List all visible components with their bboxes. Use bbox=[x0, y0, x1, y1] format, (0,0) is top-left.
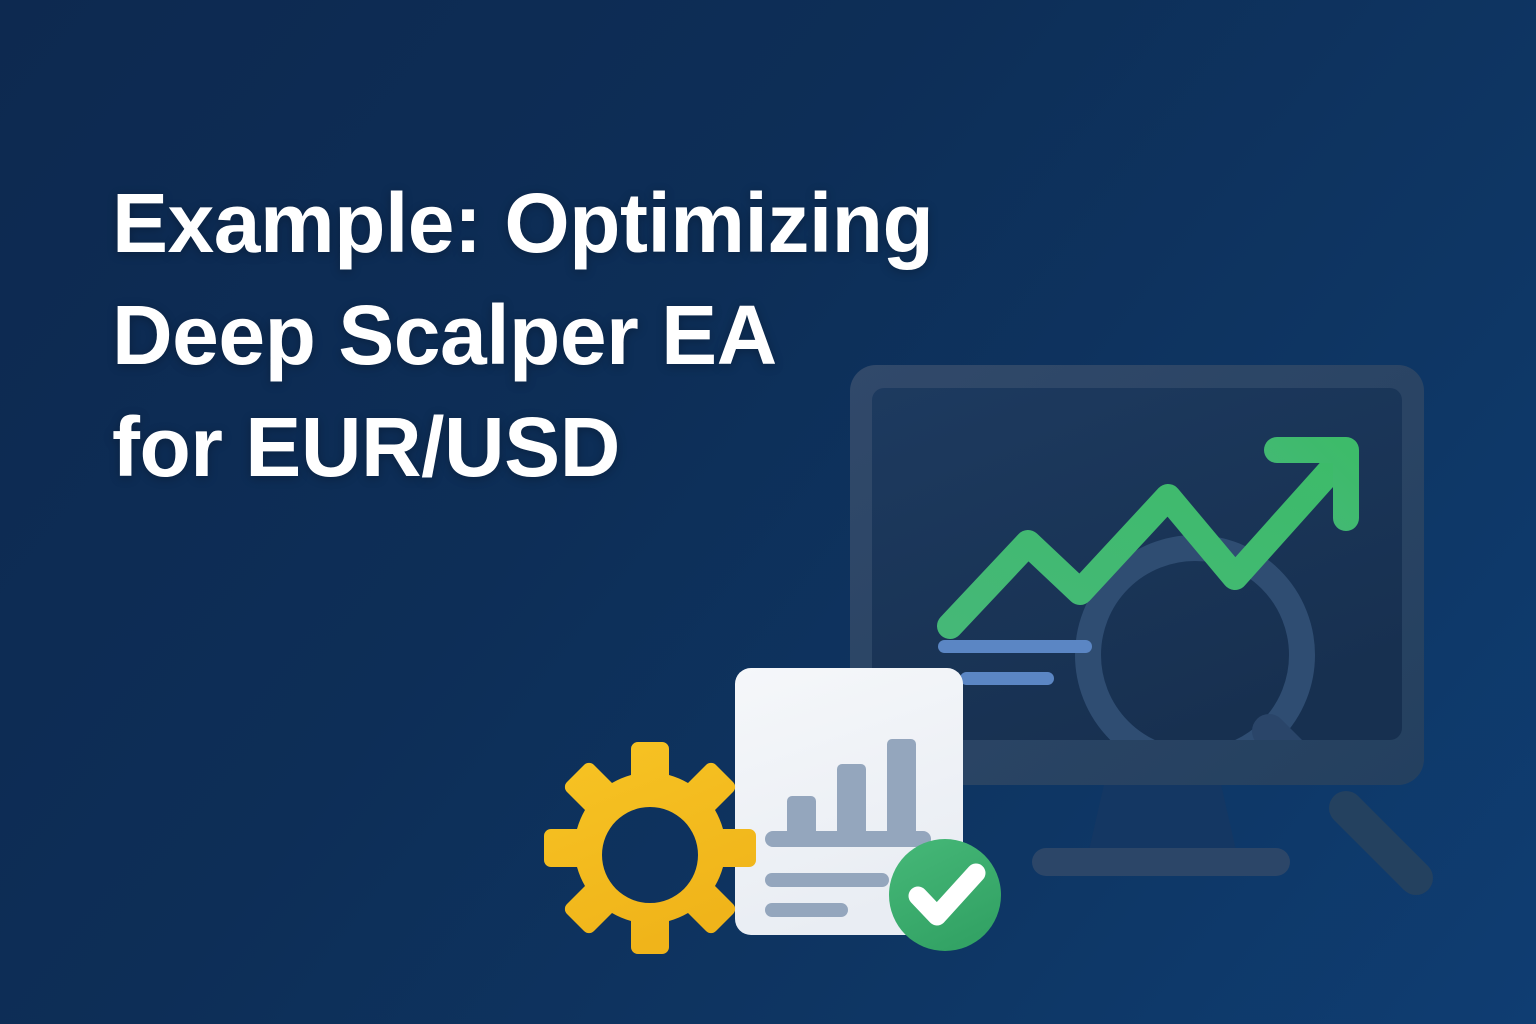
success-check-badge bbox=[889, 839, 1001, 951]
illustration-group bbox=[520, 350, 1460, 980]
hero-banner: Example: Optimizing Deep Scalper EA for … bbox=[0, 0, 1536, 1024]
report-bar-3 bbox=[887, 739, 916, 839]
report-bar-baseline bbox=[765, 831, 931, 847]
monitor-stand-base bbox=[1032, 848, 1290, 876]
monitor-stand-neck bbox=[1089, 780, 1236, 850]
report-text-line-1 bbox=[765, 873, 889, 887]
report-text-line-2 bbox=[765, 903, 848, 917]
screen-line-1 bbox=[938, 640, 1092, 653]
screen-line-2 bbox=[960, 672, 1054, 685]
settings-gear bbox=[544, 742, 756, 954]
report-bar-2 bbox=[837, 764, 866, 839]
magnifier-handle-outer bbox=[1346, 808, 1416, 878]
